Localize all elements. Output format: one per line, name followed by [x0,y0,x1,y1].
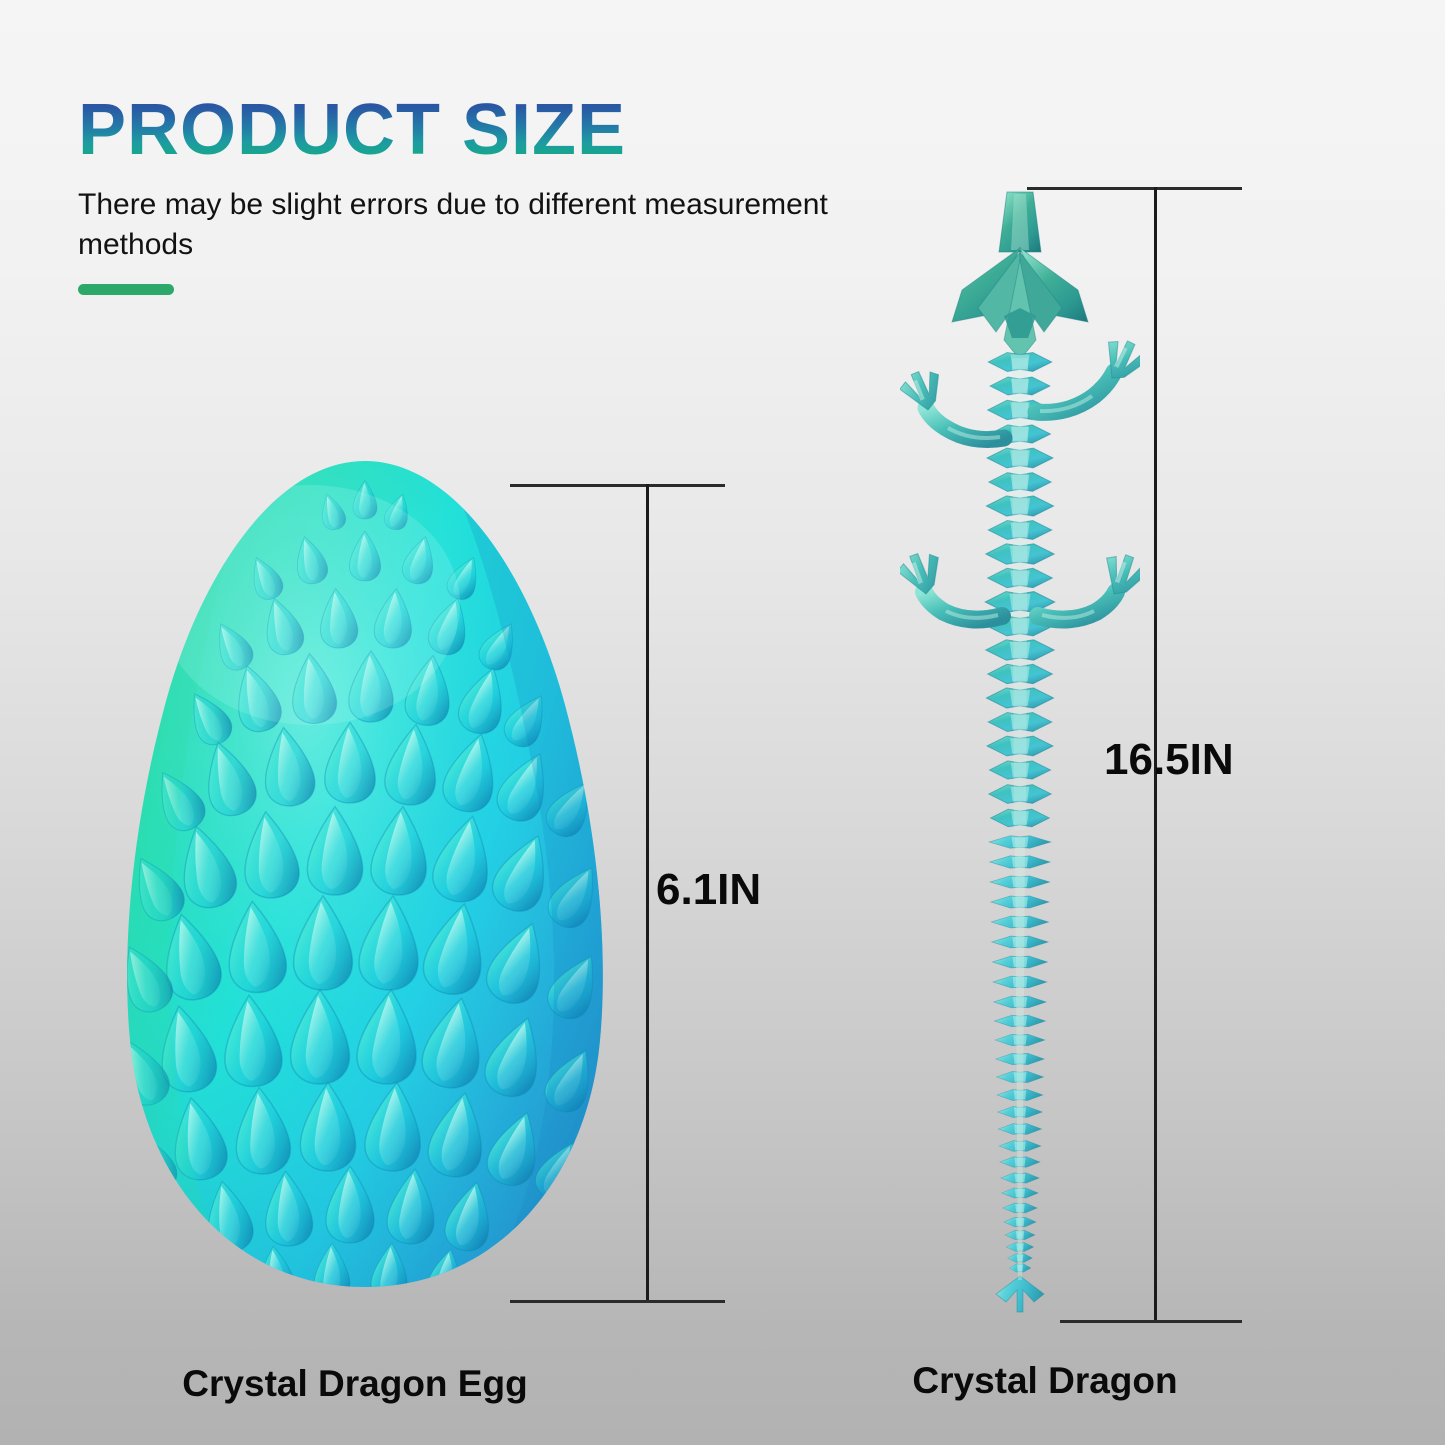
egg-dimension-line [646,484,649,1302]
dragon-neck-body [985,352,1055,830]
dragon-rear-right-leg [1038,549,1140,619]
accent-divider [78,284,174,295]
dragon-egg-icon [60,455,670,1325]
product-size-infographic: PRODUCT SIZE There may be slight errors … [0,0,1445,1445]
page-title: PRODUCT SIZE [78,96,978,165]
dragon-dimension-bottom-tick [1060,1320,1242,1323]
caption-crystal-dragon-egg: Crystal Dragon Egg [0,1363,710,1405]
dragon-rear-left-leg [900,547,1002,619]
caption-crystal-dragon: Crystal Dragon [790,1360,1300,1402]
egg-dimension-top-tick [510,484,725,487]
egg-dimension-label: 6.1IN [656,865,761,915]
dragon-front-left-leg [900,365,1004,439]
header: PRODUCT SIZE There may be slight errors … [78,96,978,295]
dragon-dimension-label: 16.5IN [1104,735,1234,785]
page-subtitle: There may be slight errors due to differ… [78,185,878,264]
dragon-head [952,192,1088,360]
egg-dimension-bottom-tick [510,1300,725,1303]
dragon-front-right-leg [1036,334,1140,413]
dragon-tail [989,836,1051,1312]
dragon-dimension-top-tick [1027,187,1242,190]
